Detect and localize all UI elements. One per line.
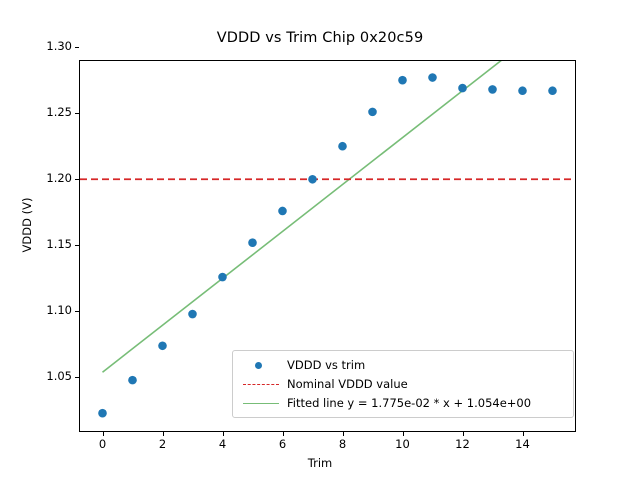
data-point [488, 85, 497, 94]
data-point [218, 273, 227, 282]
y-tick-mark [75, 179, 79, 180]
x-tick-label: 6 [263, 437, 303, 451]
data-point [308, 175, 317, 184]
x-tick-mark [103, 432, 104, 436]
y-tick-mark [75, 113, 79, 114]
data-point [428, 73, 437, 82]
x-tick-label: 12 [443, 437, 483, 451]
fitted-line [103, 61, 553, 372]
y-tick-mark [75, 311, 79, 312]
x-tick-mark [523, 432, 524, 436]
x-axis-tick-labels: 02468101214 [0, 437, 640, 457]
x-tick-mark [163, 432, 164, 436]
data-point [518, 86, 527, 95]
y-axis-label: VDDD (V) [20, 165, 34, 285]
chart-figure: VDDD vs Trim Chip 0x20c59 1.051.101.151.… [0, 0, 640, 480]
x-tick-mark [463, 432, 464, 436]
data-point [248, 238, 257, 247]
x-tick-mark [223, 432, 224, 436]
data-point [98, 409, 107, 418]
data-point [368, 108, 377, 117]
x-tick-label: 4 [203, 437, 243, 451]
y-tick-label: 1.30 [46, 39, 72, 53]
data-point [278, 207, 287, 216]
legend-item-nominal: Nominal VDDD value [241, 375, 565, 394]
legend-item-fit: Fitted line y = 1.775e-02 * x + 1.054e+0… [241, 394, 565, 413]
y-tick-label: 1.05 [46, 369, 72, 383]
x-tick-label: 14 [503, 437, 543, 451]
x-axis-label: Trim [0, 456, 640, 470]
y-tick-label: 1.20 [46, 171, 72, 185]
legend-solid-line-icon [241, 394, 281, 413]
legend-item-scatter: VDDD vs trim [241, 356, 565, 375]
data-point [548, 86, 557, 95]
data-point [188, 310, 197, 319]
legend-label-fit: Fitted line y = 1.775e-02 * x + 1.054e+0… [281, 394, 531, 413]
data-point [338, 142, 347, 151]
data-point [158, 341, 167, 350]
x-tick-mark [343, 432, 344, 436]
x-tick-label: 8 [323, 437, 363, 451]
x-tick-label: 10 [383, 437, 423, 451]
data-point [128, 376, 137, 385]
legend-label-scatter: VDDD vs trim [281, 356, 365, 375]
chart-legend: VDDD vs trim Nominal VDDD value Fitted l… [232, 350, 574, 418]
y-tick-label: 1.10 [46, 303, 72, 317]
x-tick-mark [403, 432, 404, 436]
y-tick-label: 1.15 [46, 237, 72, 251]
y-tick-mark [75, 47, 79, 48]
x-tick-label: 0 [83, 437, 123, 451]
legend-dashed-line-icon [241, 375, 281, 394]
data-point [398, 76, 407, 85]
data-point [458, 84, 467, 93]
y-tick-mark [75, 245, 79, 246]
y-tick-mark [75, 377, 79, 378]
x-tick-label: 2 [143, 437, 183, 451]
chart-title: VDDD vs Trim Chip 0x20c59 [0, 30, 640, 46]
x-tick-mark [283, 432, 284, 436]
legend-label-nominal: Nominal VDDD value [281, 375, 408, 394]
y-tick-label: 1.25 [46, 105, 72, 119]
legend-marker-icon [241, 356, 281, 375]
